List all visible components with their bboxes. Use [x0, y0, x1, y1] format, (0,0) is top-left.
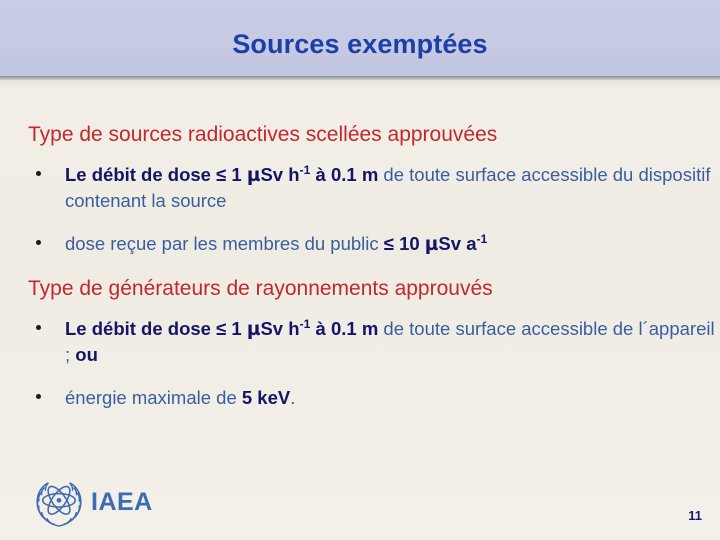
- iaea-logo-text: IAEA: [91, 488, 153, 517]
- title-band-shadow: [0, 80, 720, 90]
- bullet-dot-icon: [36, 394, 41, 399]
- page-title: Sources exemptées: [0, 28, 720, 60]
- list-item-text: Le débit de dose ≤ 1 µSv h-1 à 0.1 m de …: [65, 318, 715, 365]
- bullet-dot-icon: [36, 240, 41, 245]
- list-item: Le débit de dose ≤ 1 µSv h-1 à 0.1 m de …: [0, 316, 720, 367]
- page-number: 11: [688, 508, 702, 523]
- list-item: Le débit de dose ≤ 1 µSv h-1 à 0.1 m de …: [0, 162, 720, 213]
- slide-body: Type de sources radioactives scellées ap…: [0, 96, 720, 410]
- bullet-dot-icon: [36, 325, 41, 330]
- list-item-text: énergie maximale de 5 keV.: [65, 387, 295, 408]
- iaea-logo: IAEA: [30, 474, 153, 530]
- list-item-text: dose reçue par les membres du public ≤ 1…: [65, 233, 487, 254]
- slide: Sources exemptées Type de sources radioa…: [0, 0, 720, 540]
- iaea-atom-laurel-icon: [30, 474, 88, 530]
- list-item: énergie maximale de 5 keV.: [0, 385, 720, 410]
- section-heading-generateurs: Type de générateurs de rayonnements appr…: [0, 276, 720, 302]
- section-heading-sources: Type de sources radioactives scellées ap…: [0, 122, 720, 148]
- list-item-text: Le débit de dose ≤ 1 µSv h-1 à 0.1 m de …: [65, 164, 710, 211]
- bullet-dot-icon: [36, 171, 41, 176]
- list-item: dose reçue par les membres du public ≤ 1…: [0, 231, 720, 257]
